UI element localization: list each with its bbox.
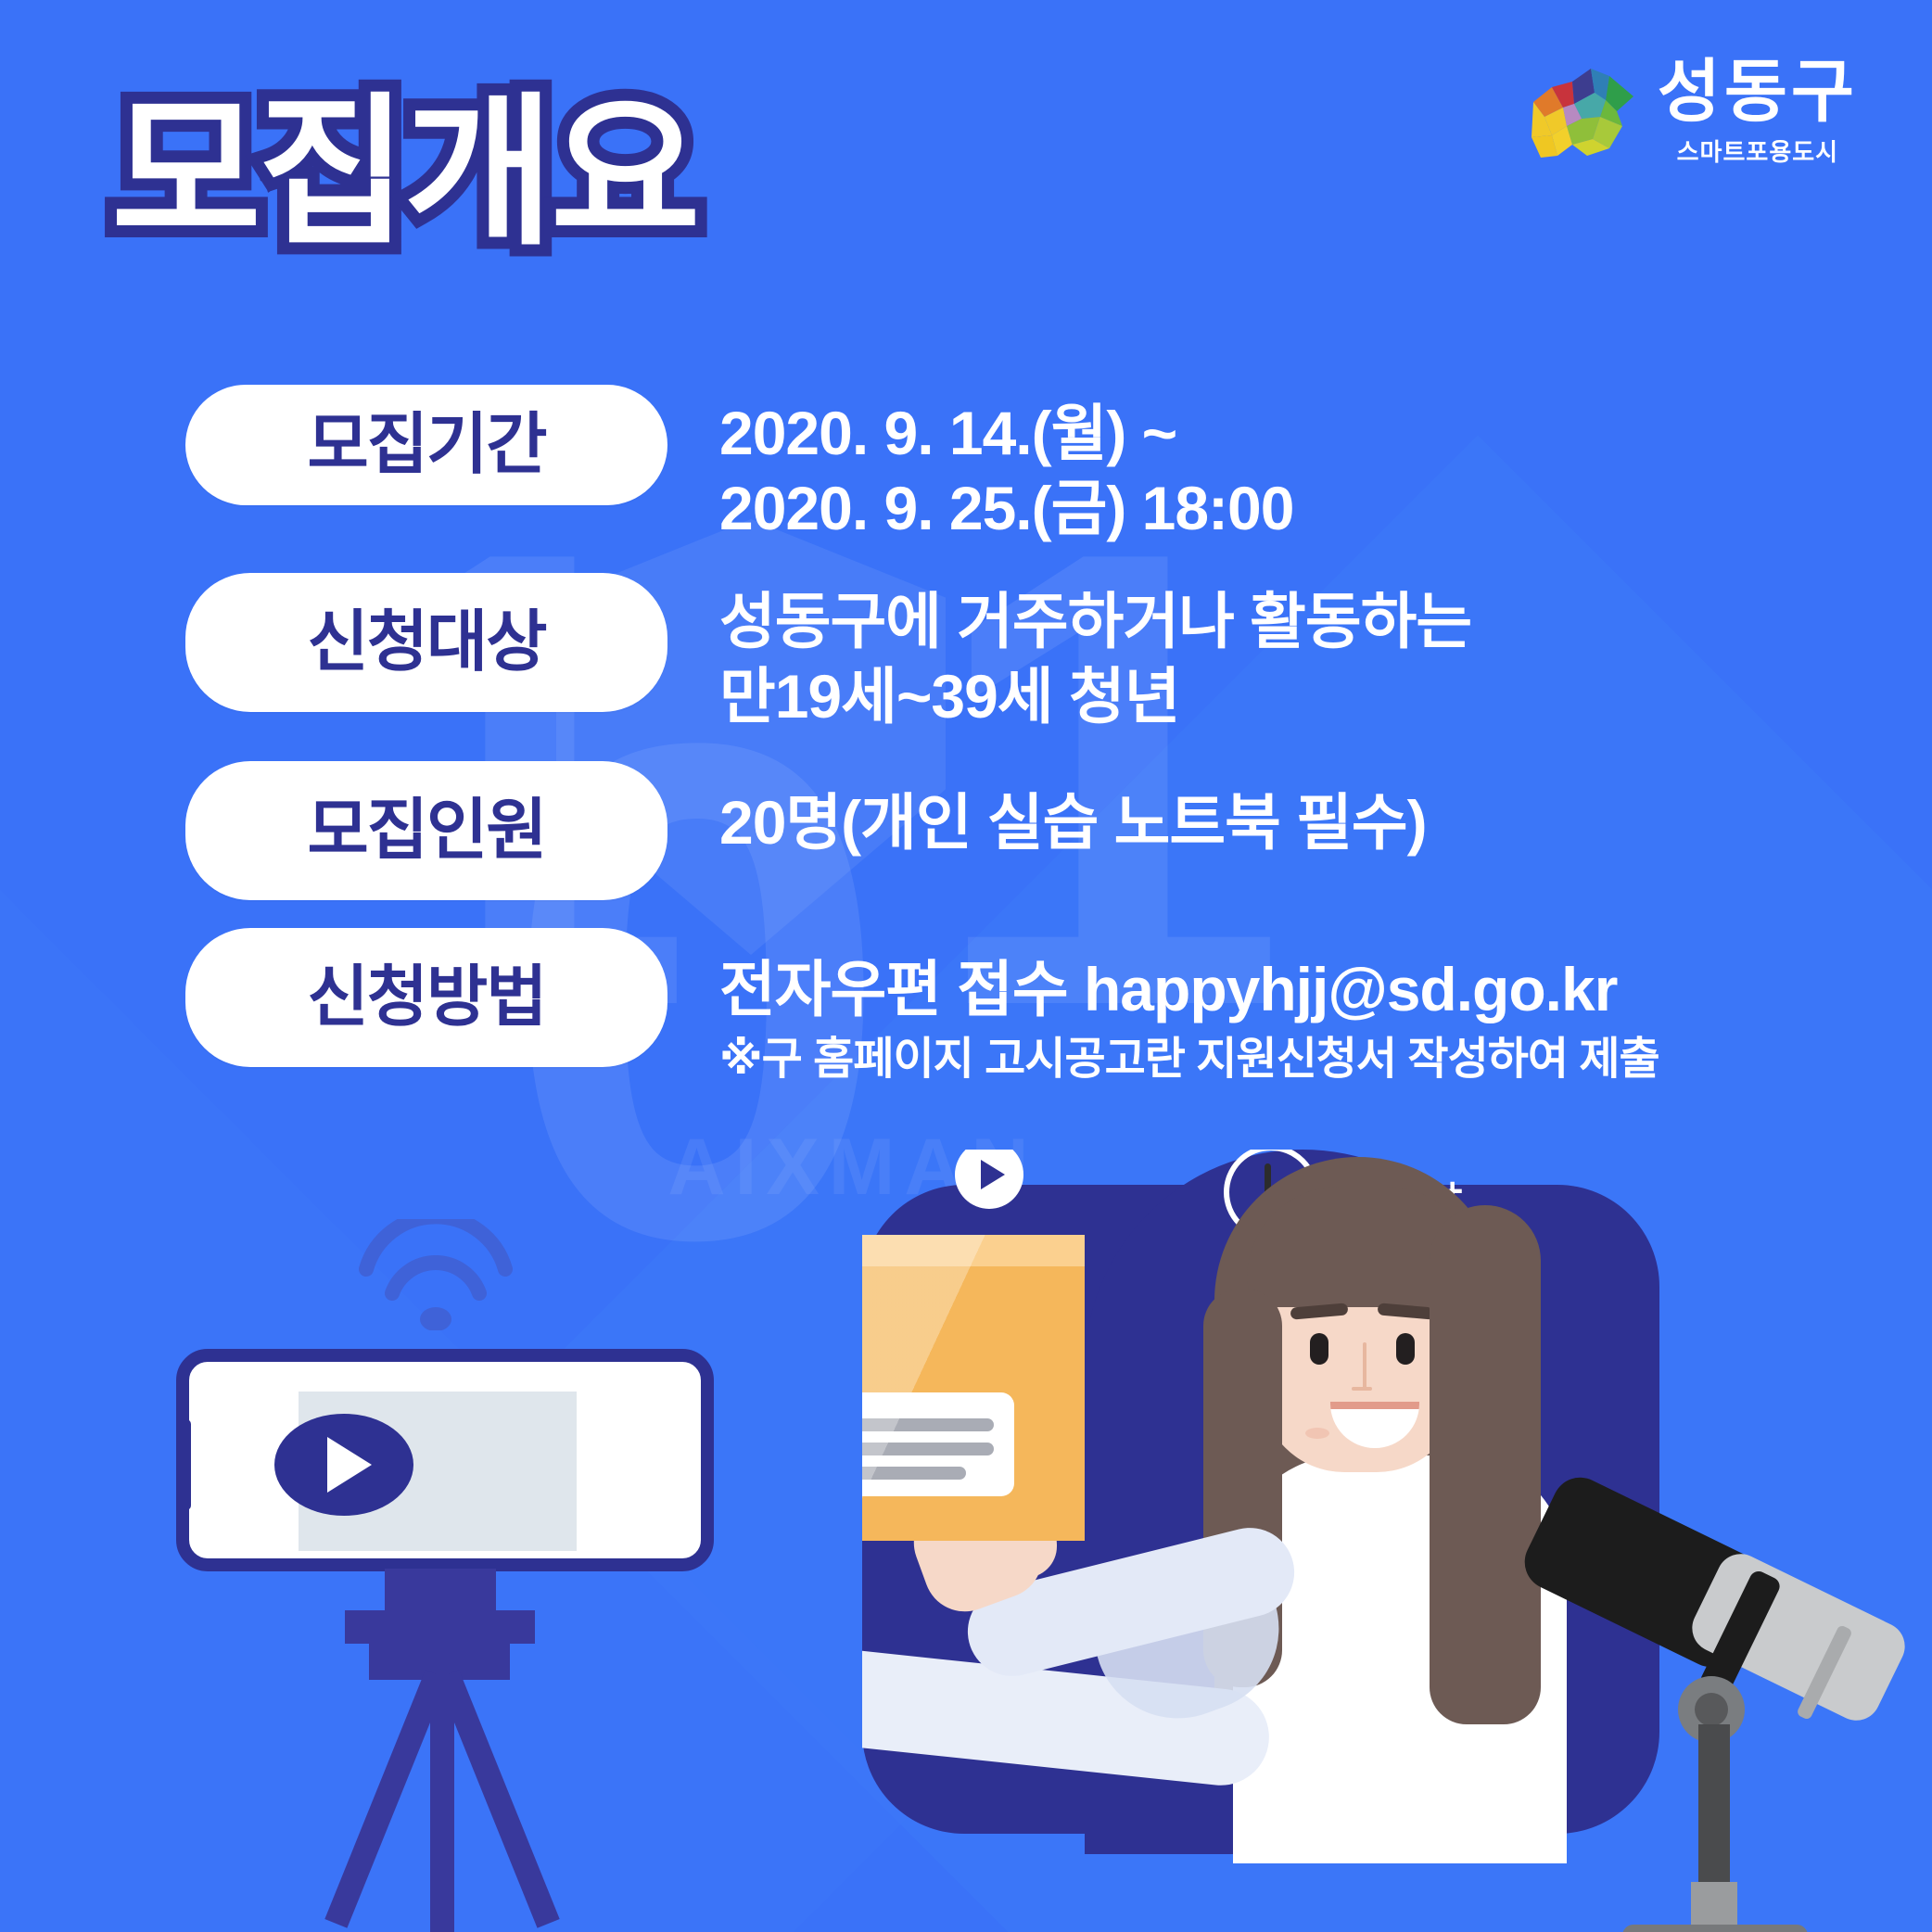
tripod-plate <box>345 1610 535 1644</box>
info-row-headcount: 모집인원 20명(개인 실습 노트북 필수) <box>0 761 1932 900</box>
smartphone-on-tripod-icon <box>176 1349 714 1571</box>
nose <box>1363 1342 1366 1391</box>
logo-name: 성동구 <box>1658 57 1858 126</box>
label-pill-eligibility: 신청대상 <box>185 573 667 712</box>
value-headcount: 20명(개인 실습 노트북 필수) <box>719 761 1427 860</box>
cheek-blush <box>1305 1428 1329 1439</box>
parcel-box-icon <box>862 1235 1085 1541</box>
play-button-icon <box>274 1414 413 1516</box>
page-title: 모집개요 <box>111 88 697 260</box>
info-rows: 모집기간 2020. 9. 14.(월) ~ 2020. 9. 25.(금) 1… <box>0 385 1932 1116</box>
broadcast-scene: + + + + + <box>862 1150 1932 1932</box>
value-line: 만19세~39세 청년 <box>719 659 1471 734</box>
value-line: 성동구에 거주하거나 활동하는 <box>719 584 1471 659</box>
microphone-base <box>1622 1925 1808 1932</box>
nose-base <box>1352 1387 1372 1391</box>
value-application-method: 전자우편 접수 happyhjj@sd.go.kr ※구 홈페이지 고시공고란 … <box>719 928 1659 1088</box>
value-note: ※구 홈페이지 고시공고란 지원신청서 작성하여 제출 <box>719 1031 1659 1088</box>
value-line: 전자우편 접수 happyhjj@sd.go.kr <box>719 952 1659 1027</box>
label-pill-recruit-period: 모집기간 <box>185 385 667 505</box>
microphone-stem <box>1698 1724 1730 1905</box>
info-row-application-method: 신청방법 전자우편 접수 happyhjj@sd.go.kr ※구 홈페이지 고… <box>0 928 1932 1088</box>
pill-label: 신청대상 <box>308 609 546 676</box>
label-pill-headcount: 모집인원 <box>185 761 667 900</box>
pill-label: 모집인원 <box>308 797 546 864</box>
tripod-leg-center <box>430 1674 454 1932</box>
phone-side-button <box>182 1419 191 1510</box>
value-line: 2020. 9. 14.(월) ~ <box>719 396 1293 471</box>
pill-label: 모집기간 <box>308 412 546 478</box>
eye-left <box>1310 1333 1328 1365</box>
value-line: 2020. 9. 25.(금) 18:00 <box>719 471 1293 546</box>
info-row-recruit-period: 모집기간 2020. 9. 14.(월) ~ 2020. 9. 25.(금) 1… <box>0 385 1932 545</box>
box-highlight <box>862 1235 1085 1541</box>
value-recruit-period: 2020. 9. 14.(월) ~ 2020. 9. 25.(금) 18:00 <box>719 385 1293 545</box>
pill-label: 신청방법 <box>308 964 546 1031</box>
hair-front-right <box>1430 1205 1541 1724</box>
poster-canvas: 1 0 1 AIXMAN 모집개요 성동구 스마트포용도시 <box>0 0 1932 1932</box>
wifi-signal-icon <box>357 1219 515 1330</box>
value-line: 20명(개인 실습 노트북 필수) <box>719 785 1427 860</box>
value-eligibility: 성동구에 거주하거나 활동하는 만19세~39세 청년 <box>719 573 1471 733</box>
label-pill-application-method: 신청방법 <box>185 928 667 1067</box>
info-row-eligibility: 신청대상 성동구에 거주하거나 활동하는 만19세~39세 청년 <box>0 573 1932 733</box>
district-logo: 성동구 스마트포용도시 <box>1520 57 1858 168</box>
eye-right <box>1396 1333 1415 1365</box>
logo-tagline: 스마트포용도시 <box>1677 133 1838 168</box>
sd-mosaic-logo-icon <box>1520 59 1641 166</box>
